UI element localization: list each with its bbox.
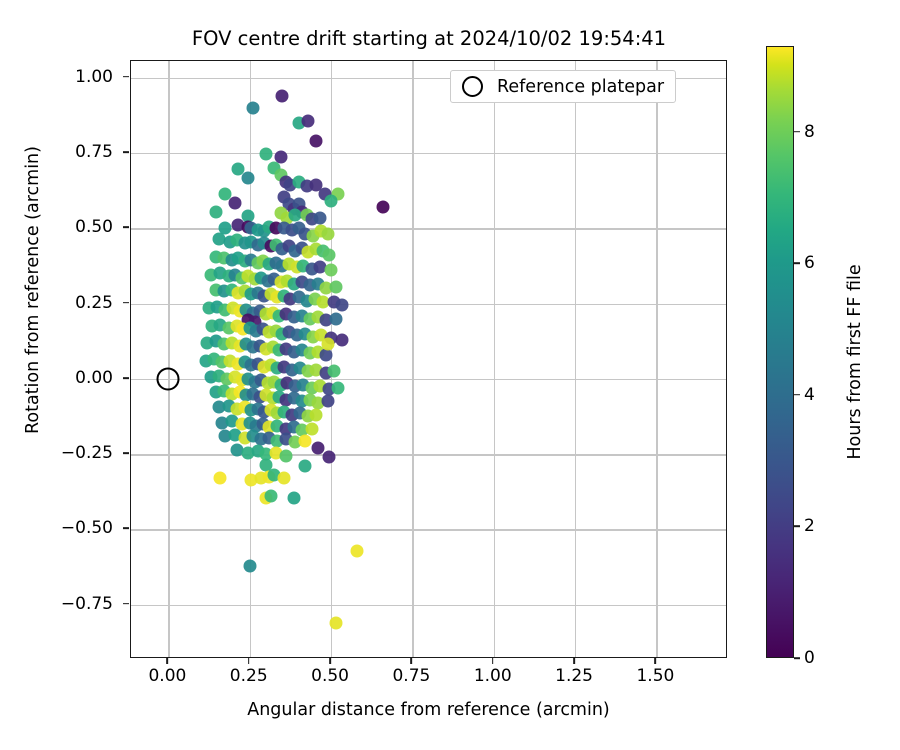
scatter-point — [287, 491, 300, 504]
plot-area — [130, 60, 727, 658]
scatter-point — [336, 299, 349, 312]
y-axis-tick — [123, 603, 129, 605]
x-axis-tick-label: 1.25 — [555, 666, 593, 686]
colorbar — [766, 46, 794, 658]
reference-platepar-point — [157, 367, 180, 390]
x-axis-tick-label: 0.75 — [392, 666, 430, 686]
scatter-point — [321, 395, 334, 408]
x-axis-tick — [655, 658, 657, 664]
scatter-point — [321, 228, 334, 241]
colorbar-tick-label: 0 — [804, 648, 815, 668]
scatter-point — [276, 89, 289, 102]
scatter-point — [214, 472, 227, 485]
x-axis-tick-label: 1.00 — [474, 666, 512, 686]
y-axis-tick-label: −0.50 — [0, 518, 113, 538]
colorbar-title: Hours from first FF file — [845, 52, 865, 672]
x-axis-tick-label: 0.50 — [311, 666, 349, 686]
scatter-point — [336, 333, 349, 346]
scatter-point — [329, 312, 342, 325]
y-axis-tick-label: 0.75 — [0, 142, 113, 162]
colorbar-tick-label: 6 — [804, 253, 815, 273]
scatter-point — [325, 264, 338, 277]
reference-platepar-marker-icon — [462, 76, 483, 97]
x-axis-tick — [167, 658, 169, 664]
x-axis-tick-label: 0.00 — [148, 666, 186, 686]
scatter-point — [351, 544, 364, 557]
scatter-point — [321, 338, 334, 351]
y-axis-tick-label: 0.50 — [0, 217, 113, 237]
y-axis-tick-label: −0.25 — [0, 443, 113, 463]
y-axis-tick — [123, 528, 129, 530]
x-axis-tick-label: 1.50 — [636, 666, 674, 686]
scatter-point — [277, 472, 290, 485]
y-axis-tick — [123, 151, 129, 153]
scatter-point — [310, 408, 323, 421]
scatter-point — [247, 101, 260, 114]
x-axis-tick — [573, 658, 575, 664]
colorbar-tick — [794, 131, 800, 133]
colorbar-tick-label: 4 — [804, 385, 815, 405]
scatter-point — [325, 195, 338, 208]
scatter-point — [299, 460, 312, 473]
x-axis-tick — [248, 658, 250, 664]
scatter-point — [312, 442, 325, 455]
y-axis-tick-label: 1.00 — [0, 67, 113, 87]
y-axis-tick — [123, 377, 129, 379]
y-axis-tick-label: 0.25 — [0, 293, 113, 313]
x-axis-tick — [492, 658, 494, 664]
chart-root: FOV centre drift starting at 2024/10/02 … — [0, 0, 900, 750]
x-axis-tick-label: 0.25 — [230, 666, 268, 686]
x-axis-tick — [411, 658, 413, 664]
colorbar-tick-label: 2 — [804, 516, 815, 536]
scatter-point — [299, 434, 312, 447]
colorbar-tick — [794, 526, 800, 528]
scatter-point — [331, 381, 344, 394]
scatter-point — [329, 280, 342, 293]
y-axis-title: Rotation from reference (arcmin) — [23, 0, 43, 600]
scatter-point — [310, 134, 323, 147]
y-axis-tick — [123, 226, 129, 228]
scatter-point — [305, 422, 318, 435]
colorbar-tick — [794, 394, 800, 396]
scatter-point — [279, 449, 292, 462]
scatter-point — [302, 115, 315, 128]
legend-label-reference-platepar: Reference platepar — [497, 77, 664, 97]
scatter-point — [328, 365, 341, 378]
scatter-point — [243, 559, 256, 572]
scatter-point — [313, 211, 326, 224]
x-axis-tick — [329, 658, 331, 664]
legend[interactable]: Reference platepar — [450, 70, 676, 103]
scatter-point — [242, 172, 255, 185]
scatter-point — [264, 490, 277, 503]
colorbar-tick — [794, 262, 800, 264]
scatter-point — [323, 249, 336, 262]
colorbar-tick-label: 8 — [804, 122, 815, 142]
y-axis-tick — [123, 302, 129, 304]
scatter-point — [229, 196, 242, 209]
scatter-point — [260, 148, 273, 161]
y-axis-tick-label: 0.00 — [0, 368, 113, 388]
y-axis-tick — [123, 76, 129, 78]
y-axis-tick-label: −0.75 — [0, 594, 113, 614]
scatter-point — [323, 451, 336, 464]
y-axis-tick — [123, 452, 129, 454]
chart-title: FOV centre drift starting at 2024/10/02 … — [130, 27, 728, 50]
colorbar-tick — [794, 657, 800, 659]
x-axis-title: Angular distance from reference (arcmin) — [130, 700, 727, 720]
scatter-point — [377, 201, 390, 214]
scatter-point — [209, 205, 222, 218]
scatter-points-layer — [131, 61, 726, 657]
scatter-point — [329, 616, 342, 629]
